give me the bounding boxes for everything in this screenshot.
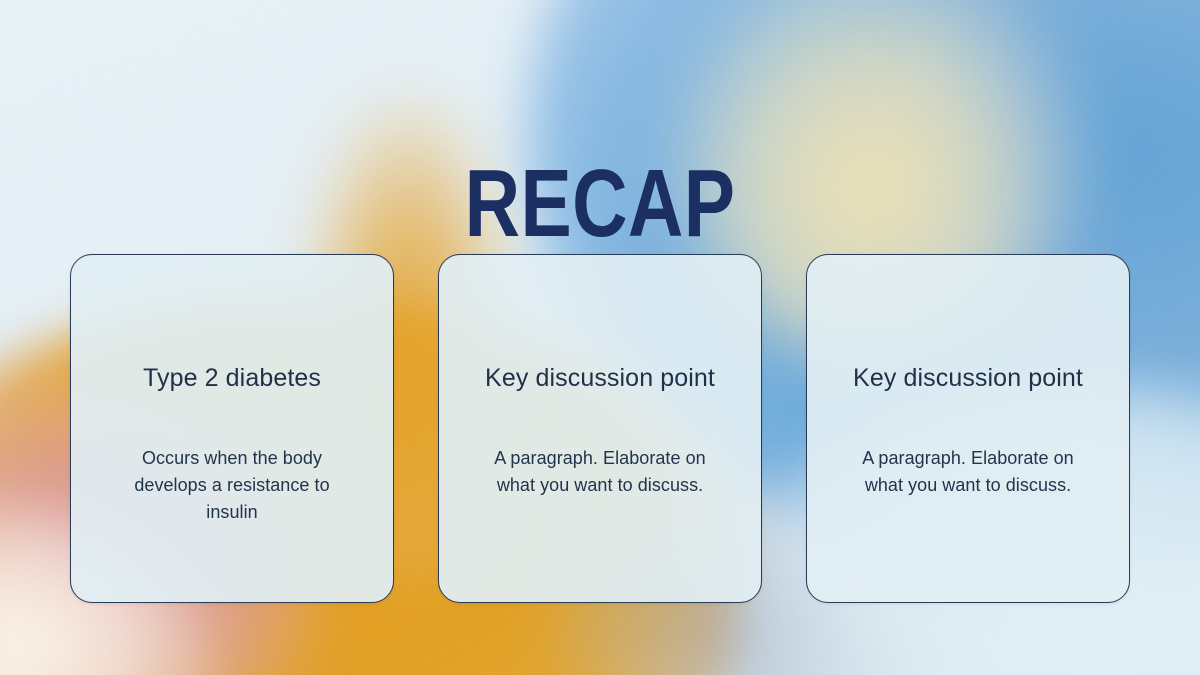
card-body-text: A paragraph. Elaborate on what you want … (475, 445, 725, 499)
card-body-text: Occurs when the body develops a resistan… (107, 445, 357, 526)
card-heading: Type 2 diabetes (143, 363, 321, 393)
recap-card-1[interactable]: Type 2 diabetes Occurs when the body dev… (70, 254, 394, 603)
recap-card-2[interactable]: Key discussion point A paragraph. Elabor… (438, 254, 762, 603)
card-heading: Key discussion point (853, 363, 1083, 393)
recap-slide: RECAP Type 2 diabetes Occurs when the bo… (0, 0, 1200, 675)
card-row: Type 2 diabetes Occurs when the body dev… (70, 254, 1130, 603)
card-heading: Key discussion point (485, 363, 715, 393)
recap-card-3[interactable]: Key discussion point A paragraph. Elabor… (806, 254, 1130, 603)
page-title: RECAP (120, 156, 1080, 252)
card-body-text: A paragraph. Elaborate on what you want … (843, 445, 1093, 499)
